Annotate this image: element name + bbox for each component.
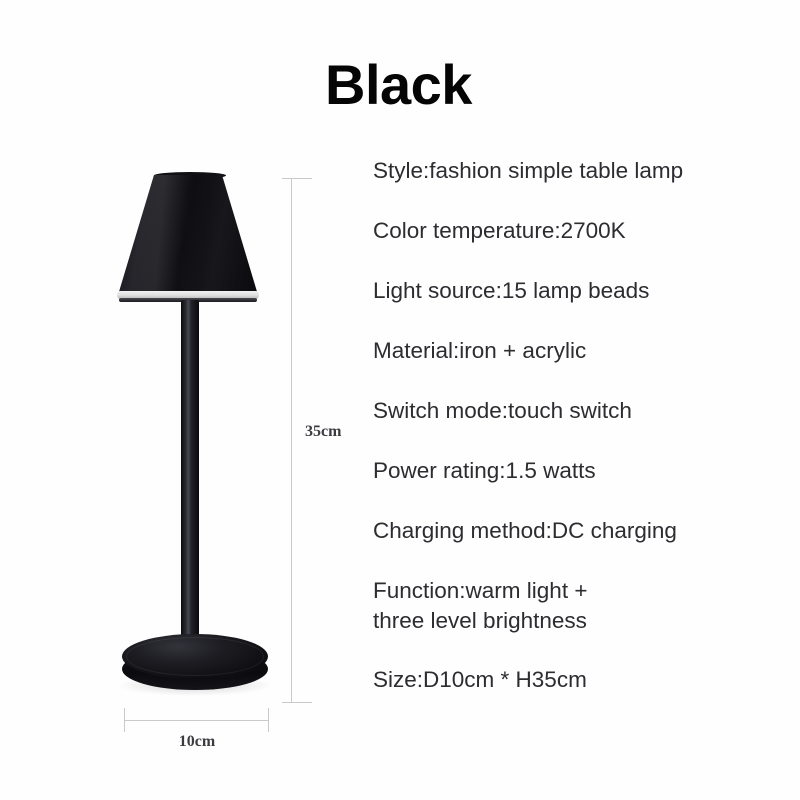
diameter-dimension-line — [124, 720, 269, 721]
specification-list: Style:fashion simple table lamp Color te… — [373, 156, 773, 725]
spec-item-material: Material:iron + acrylic — [373, 336, 773, 366]
diameter-dimension-label: 10cm — [124, 734, 270, 750]
spec-item-power-rating: Power rating:1.5 watts — [373, 456, 773, 486]
height-dimension-label: 35cm — [302, 420, 344, 444]
spec-item-style: Style:fashion simple table lamp — [373, 156, 773, 186]
spec-item-charging-method: Charging method:DC charging — [373, 516, 773, 546]
lamp-base-rim — [126, 637, 264, 676]
spec-item-switch-mode: Switch mode:touch switch — [373, 396, 773, 426]
lamp-stem — [181, 300, 199, 645]
spec-item-size: Size:D10cm * H35cm — [373, 665, 773, 695]
lamp-base-shadow — [118, 676, 272, 696]
product-spec-image: Black 35cm 10cm Style:fashion simple tab… — [0, 0, 800, 800]
diameter-dimension-tick-left — [124, 708, 125, 732]
spec-item-color-temperature: Color temperature:2700K — [373, 216, 773, 246]
height-dimension-line — [291, 178, 292, 703]
page-title: Black — [325, 57, 472, 113]
lamp-shade — [118, 175, 258, 295]
diameter-dimension-tick-right — [268, 708, 269, 732]
height-dimension-tick-top — [282, 178, 312, 179]
spec-item-function: Function:warm light + three level bright… — [373, 576, 773, 636]
spec-item-light-source: Light source:15 lamp beads — [373, 276, 773, 306]
lamp-illustration — [0, 0, 300, 800]
height-dimension-tick-bottom — [282, 702, 312, 703]
